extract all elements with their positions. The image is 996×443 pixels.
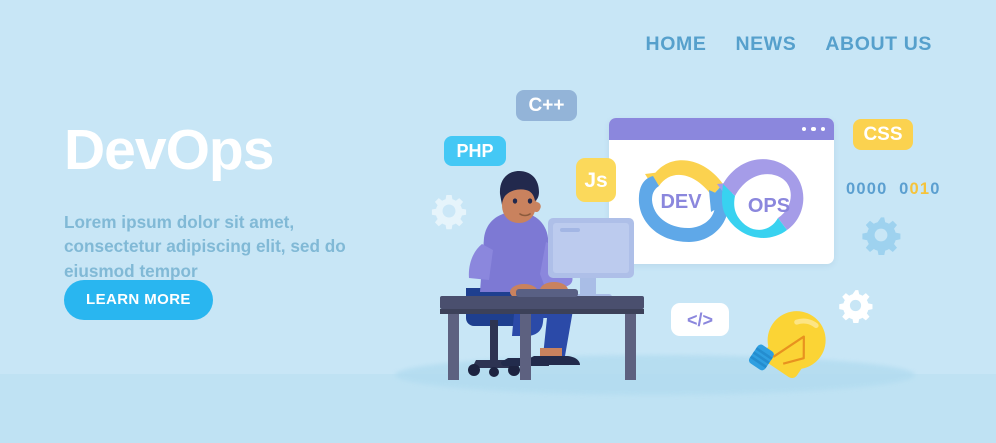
binary-right-suffix: 0 xyxy=(930,180,940,198)
hero-subtitle: Lorem ipsum dolor sit amet, consectetur … xyxy=(64,210,394,283)
loop-label-dev: DEV xyxy=(660,191,702,213)
learn-more-button[interactable]: LEARN MORE xyxy=(64,280,213,320)
illustration-stage: HOME NEWS ABOUT US DevOps Lorem ipsum do… xyxy=(0,0,996,443)
main-navigation: HOME NEWS ABOUT US xyxy=(646,33,932,56)
nav-link-news[interactable]: NEWS xyxy=(735,33,796,56)
tag-code-brackets[interactable]: </> xyxy=(671,303,729,336)
browser-titlebar xyxy=(609,118,834,140)
developer-workspace xyxy=(420,170,660,385)
tag-php[interactable]: PHP xyxy=(444,136,506,166)
gear-white-icon xyxy=(838,288,873,323)
window-dot-1 xyxy=(802,127,807,132)
binary-right-highlight: 01 xyxy=(909,180,930,198)
gear-blue-icon xyxy=(861,215,901,255)
page-title: DevOps xyxy=(64,122,273,179)
binary-right-prefix: 0 xyxy=(899,180,909,198)
person-head xyxy=(500,171,541,223)
binary-left-group: 0000 xyxy=(846,180,888,198)
loop-label-ops: OPS xyxy=(748,195,790,217)
nav-link-about-us[interactable]: ABOUT US xyxy=(825,33,932,56)
binary-digits: 0000 0010 xyxy=(846,180,941,199)
lightbulb-icon xyxy=(737,303,839,385)
window-dot-2 xyxy=(811,127,816,132)
window-dot-3 xyxy=(821,127,826,132)
nav-link-home[interactable]: HOME xyxy=(646,33,707,56)
tag-css[interactable]: CSS xyxy=(853,119,913,150)
tag-cpp[interactable]: C++ xyxy=(516,90,577,121)
